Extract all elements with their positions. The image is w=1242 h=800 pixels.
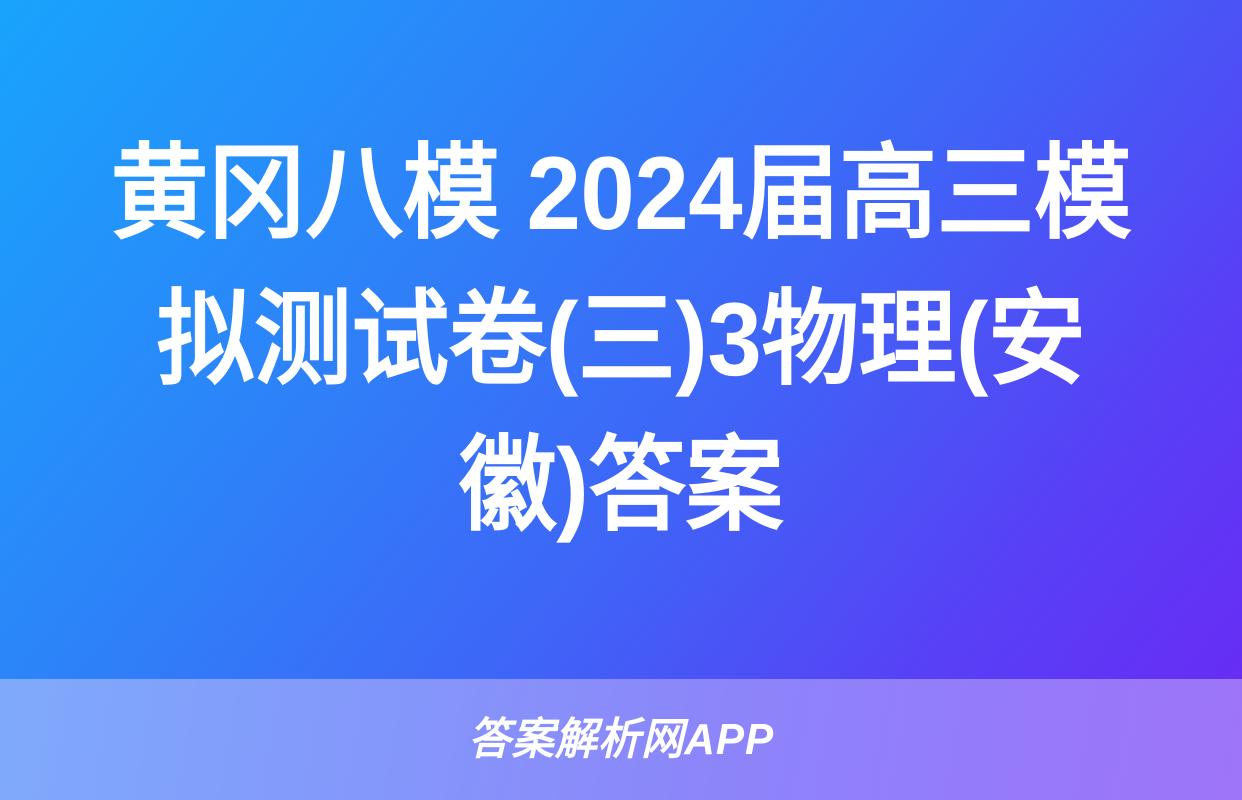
page-title: 黄冈八模 2024届高三模拟测试卷(三)3物理(安徽)答案 bbox=[105, 121, 1137, 559]
hero-section: 黄冈八模 2024届高三模拟测试卷(三)3物理(安徽)答案 bbox=[0, 0, 1242, 679]
watermark-label: 答案解析网APP bbox=[468, 718, 774, 762]
watermark-band: 答案解析网APP bbox=[0, 679, 1242, 800]
promo-card: 黄冈八模 2024届高三模拟测试卷(三)3物理(安徽)答案 答案解析网APP bbox=[0, 0, 1242, 800]
